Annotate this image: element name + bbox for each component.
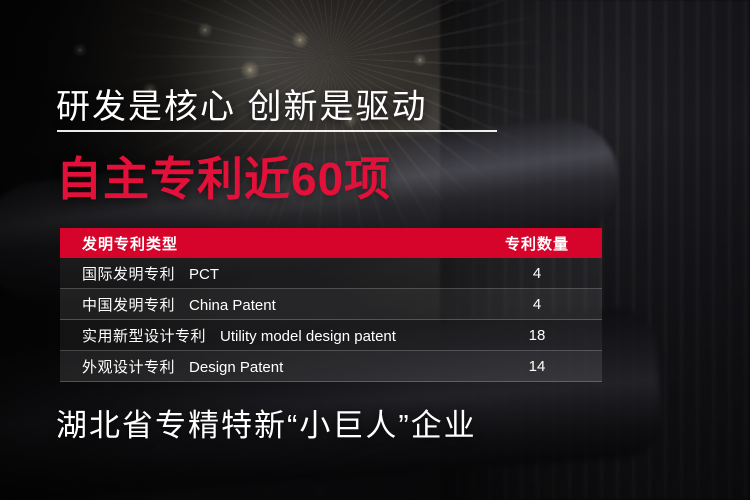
patent-table-wrapper: 发明专利类型 专利数量 国际发明专利PCT 4 中国发明专利China Pate… xyxy=(60,228,602,382)
patent-type-cn: 国际发明专利 xyxy=(82,263,175,284)
table-row: 国际发明专利PCT 4 xyxy=(60,258,602,289)
column-header-type: 发明专利类型 xyxy=(60,228,472,258)
table-row: 中国发明专利China Patent 4 xyxy=(60,289,602,320)
cell-patent-type: 实用新型设计专利Utility model design patent xyxy=(60,320,472,351)
cell-patent-type: 中国发明专利China Patent xyxy=(60,289,472,320)
poster-content: 研发是核心 创新是驱动 自主专利近60项 发明专利类型 专利数量 国际发明专利P… xyxy=(0,0,750,500)
patent-type-en: Utility model design patent xyxy=(220,328,396,345)
cell-patent-count: 4 xyxy=(472,258,602,289)
headline-divider xyxy=(57,130,497,132)
table-row: 外观设计专利Design Patent 14 xyxy=(60,351,602,382)
patent-type-cn: 中国发明专利 xyxy=(82,294,175,315)
cell-patent-count: 4 xyxy=(472,289,602,320)
cell-patent-count: 14 xyxy=(472,351,602,382)
cell-patent-count: 18 xyxy=(472,320,602,351)
cell-patent-type: 国际发明专利PCT xyxy=(60,258,472,289)
cell-patent-type: 外观设计专利Design Patent xyxy=(60,351,472,382)
subheadline: 自主专利近60项 xyxy=(56,143,391,209)
headline: 研发是核心 创新是驱动 xyxy=(56,79,427,128)
patent-type-cn: 外观设计专利 xyxy=(82,356,175,377)
patent-type-en: Design Patent xyxy=(189,359,283,376)
patent-type-en: PCT xyxy=(189,266,219,283)
patent-table-head: 发明专利类型 专利数量 xyxy=(60,228,602,258)
patent-table: 发明专利类型 专利数量 国际发明专利PCT 4 中国发明专利China Pate… xyxy=(60,228,602,382)
table-header-row: 发明专利类型 专利数量 xyxy=(60,228,602,258)
table-row: 实用新型设计专利Utility model design patent 18 xyxy=(60,320,602,351)
poster-root: 研发是核心 创新是驱动 自主专利近60项 发明专利类型 专利数量 国际发明专利P… xyxy=(0,0,750,500)
patent-type-cn: 实用新型设计专利 xyxy=(82,325,206,346)
patent-type-en: China Patent xyxy=(189,297,276,314)
column-header-count: 专利数量 xyxy=(472,228,602,258)
patent-table-body: 国际发明专利PCT 4 中国发明专利China Patent 4 实用新型设计专… xyxy=(60,258,602,382)
footline: 湖北省专精特新“小巨人”企业 xyxy=(56,400,477,445)
